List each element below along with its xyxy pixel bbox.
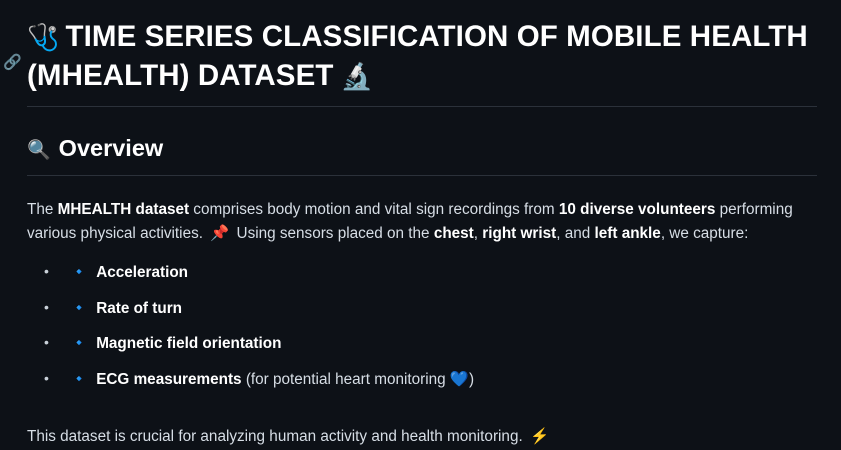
intro-bold-right-wrist: right wrist [482, 225, 556, 242]
intro-paragraph: The MHEALTH dataset comprises body motio… [27, 176, 817, 248]
section-heading-text: Overview [59, 135, 164, 161]
closing-text: This dataset is crucial for analyzing hu… [27, 428, 527, 445]
magnifier-icon: 🔍 [27, 140, 51, 161]
closing-paragraph: This dataset is crucial for analyzing hu… [27, 403, 817, 450]
blue-diamond-icon: 🔹 [71, 300, 87, 315]
link-icon[interactable]: 🔗 [3, 52, 25, 74]
blue-diamond-icon: 🔹 [71, 335, 87, 350]
microscope-icon: 🔬 [340, 61, 372, 91]
list-item: 🔹Acceleration [71, 261, 817, 296]
intro-bold-left-ankle: left ankle [595, 225, 661, 242]
intro-part-6: , and [556, 225, 594, 242]
feature-list: 🔹Acceleration 🔹Rate of turn 🔹Magnetic fi… [27, 247, 817, 403]
page-title: 🩺TIME SERIES CLASSIFICATION OF MOBILE HE… [27, 0, 817, 106]
blue-diamond-icon: 🔹 [71, 264, 87, 279]
list-item: 🔹Magnetic field orientation [71, 332, 817, 367]
intro-bold-volunteers: 10 diverse volunteers [559, 201, 715, 218]
section-heading-overview: 🔍Overview [27, 107, 817, 175]
document-content: 🩺TIME SERIES CLASSIFICATION OF MOBILE HE… [27, 0, 841, 450]
intro-part-4: Using sensors placed on the [232, 225, 434, 242]
list-item-note: (for potential heart monitoring 💙) [242, 371, 474, 388]
blue-diamond-icon: 🔹 [71, 371, 87, 386]
list-item: 🔹ECG measurements (for potential heart m… [71, 368, 817, 403]
intro-bold-dataset: MHEALTH dataset [58, 201, 189, 218]
intro-part-7: , we capture: [661, 225, 749, 242]
document-page: 🔗 🩺TIME SERIES CLASSIFICATION OF MOBILE … [0, 0, 841, 422]
intro-part-5: , [474, 225, 483, 242]
list-item-label: Magnetic field orientation [96, 335, 281, 352]
list-item-label: ECG measurements [96, 371, 241, 388]
intro-bold-chest: chest [434, 225, 474, 242]
list-item: 🔹Rate of turn [71, 297, 817, 332]
high-voltage-icon: ⚡ [530, 428, 549, 445]
stethoscope-icon: 🩺 [27, 22, 59, 52]
list-item-label: Rate of turn [96, 300, 182, 317]
intro-part-1: The [27, 201, 58, 218]
intro-part-2: comprises body motion and vital sign rec… [189, 201, 559, 218]
page-title-text: TIME SERIES CLASSIFICATION OF MOBILE HEA… [27, 20, 808, 92]
list-item-label: Acceleration [96, 264, 188, 281]
pushpin-icon: 📌 [210, 225, 229, 242]
